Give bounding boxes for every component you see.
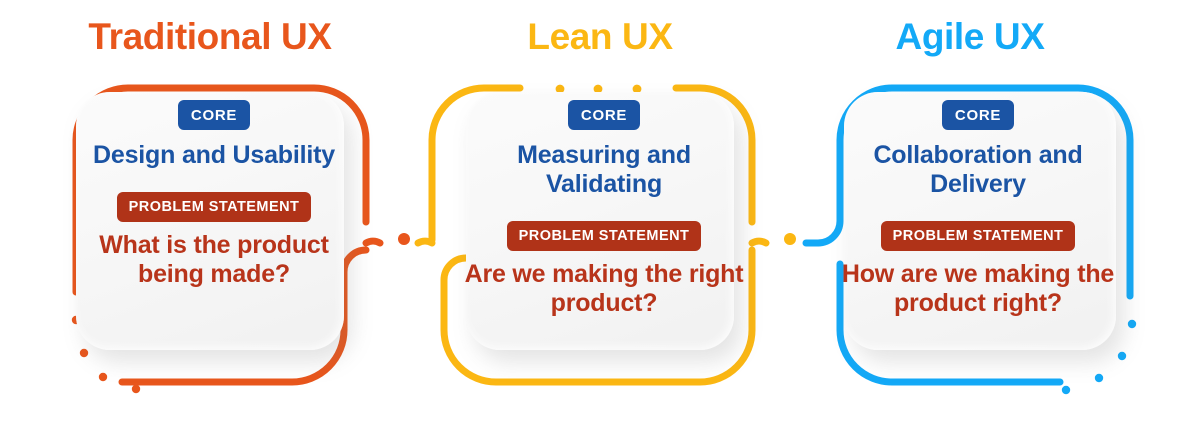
core-text-lean-ux: Measuring and Validating <box>456 141 752 199</box>
column-title-traditional-ux: Traditional UX <box>30 18 390 57</box>
problem-badge-agile-ux: PROBLEM STATEMENT <box>881 221 1076 251</box>
problem-text-lean-ux: Are we making the right product? <box>456 260 752 319</box>
core-text-traditional-ux: Design and Usability <box>66 141 362 170</box>
core-text-agile-ux: Collaboration and Delivery <box>830 141 1126 199</box>
connector-dot-1 <box>398 233 410 245</box>
column-title-agile-ux: Agile UX <box>790 18 1150 57</box>
problem-block-traditional-ux: PROBLEM STATEMENT What is the product be… <box>66 192 362 289</box>
core-badge-agile-ux: CORE <box>942 100 1014 130</box>
card-content-agile-ux: CORE Collaboration and Delivery PROBLEM … <box>830 100 1126 318</box>
column-title-lean-ux: Lean UX <box>420 18 780 57</box>
problem-text-agile-ux: How are we making the product right? <box>830 260 1126 319</box>
core-badge-traditional-ux: CORE <box>178 100 250 130</box>
core-badge-lean-ux: CORE <box>568 100 640 130</box>
card-content-traditional-ux: CORE Design and Usability PROBLEM STATEM… <box>66 100 362 289</box>
card-content-lean-ux: CORE Measuring and Validating PROBLEM ST… <box>456 100 752 318</box>
card-traditional-ux[interactable]: Traditional UX CORE Design and Usability… <box>30 0 390 434</box>
card-lean-ux[interactable]: Lean UX CORE Measuring and Validating PR… <box>420 0 780 434</box>
problem-badge-lean-ux: PROBLEM STATEMENT <box>507 221 702 251</box>
problem-block-agile-ux: PROBLEM STATEMENT How are we making the … <box>830 221 1126 318</box>
problem-text-traditional-ux: What is the product being made? <box>66 231 362 290</box>
problem-badge-traditional-ux: PROBLEM STATEMENT <box>117 192 312 222</box>
infographic-canvas: Traditional UX CORE Design and Usability… <box>0 0 1200 434</box>
problem-block-lean-ux: PROBLEM STATEMENT Are we making the righ… <box>456 221 752 318</box>
card-agile-ux[interactable]: Agile UX CORE Collaboration and Delivery… <box>790 0 1150 434</box>
